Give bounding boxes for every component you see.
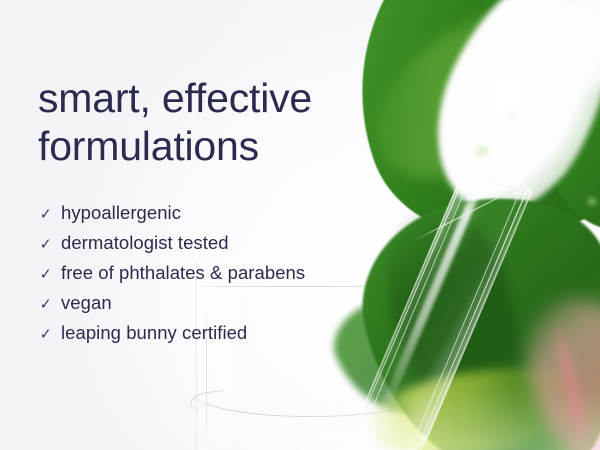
feature-label: free of phthalates & parabens (61, 258, 305, 288)
feature-label: dermatologist tested (61, 228, 229, 258)
check-icon: ✓ (40, 320, 60, 350)
check-icon: ✓ (40, 290, 60, 320)
feature-list: ✓ hypoallergenic ✓ dermatologist tested … (39, 198, 305, 348)
feature-item-hypoallergenic: ✓ hypoallergenic (39, 198, 305, 228)
check-icon: ✓ (40, 230, 60, 260)
feature-label: vegan (61, 288, 112, 318)
feature-item-vegan: ✓ vegan (39, 288, 305, 318)
text-content: smart, effective formulations ✓ hypoalle… (38, 0, 368, 450)
leaf-highlight-speck (556, 166, 565, 174)
leaf-highlight-speck (588, 198, 596, 205)
check-icon: ✓ (40, 200, 60, 230)
headline: smart, effective formulations (38, 74, 378, 170)
feature-item-leaping-bunny-certified: ✓ leaping bunny certified (39, 318, 305, 348)
leaf-highlight-speck (476, 146, 488, 156)
check-icon: ✓ (40, 260, 60, 290)
feature-label: leaping bunny certified (61, 318, 247, 348)
feature-item-dermatologist-tested: ✓ dermatologist tested (39, 228, 305, 258)
leaf-highlight-speck (508, 112, 515, 118)
product-promo-banner: smart, effective formulations ✓ hypoalle… (0, 0, 600, 450)
feature-label: hypoallergenic (61, 198, 181, 228)
feature-item-free-of-phthalates-parabens: ✓ free of phthalates & parabens (39, 258, 305, 288)
